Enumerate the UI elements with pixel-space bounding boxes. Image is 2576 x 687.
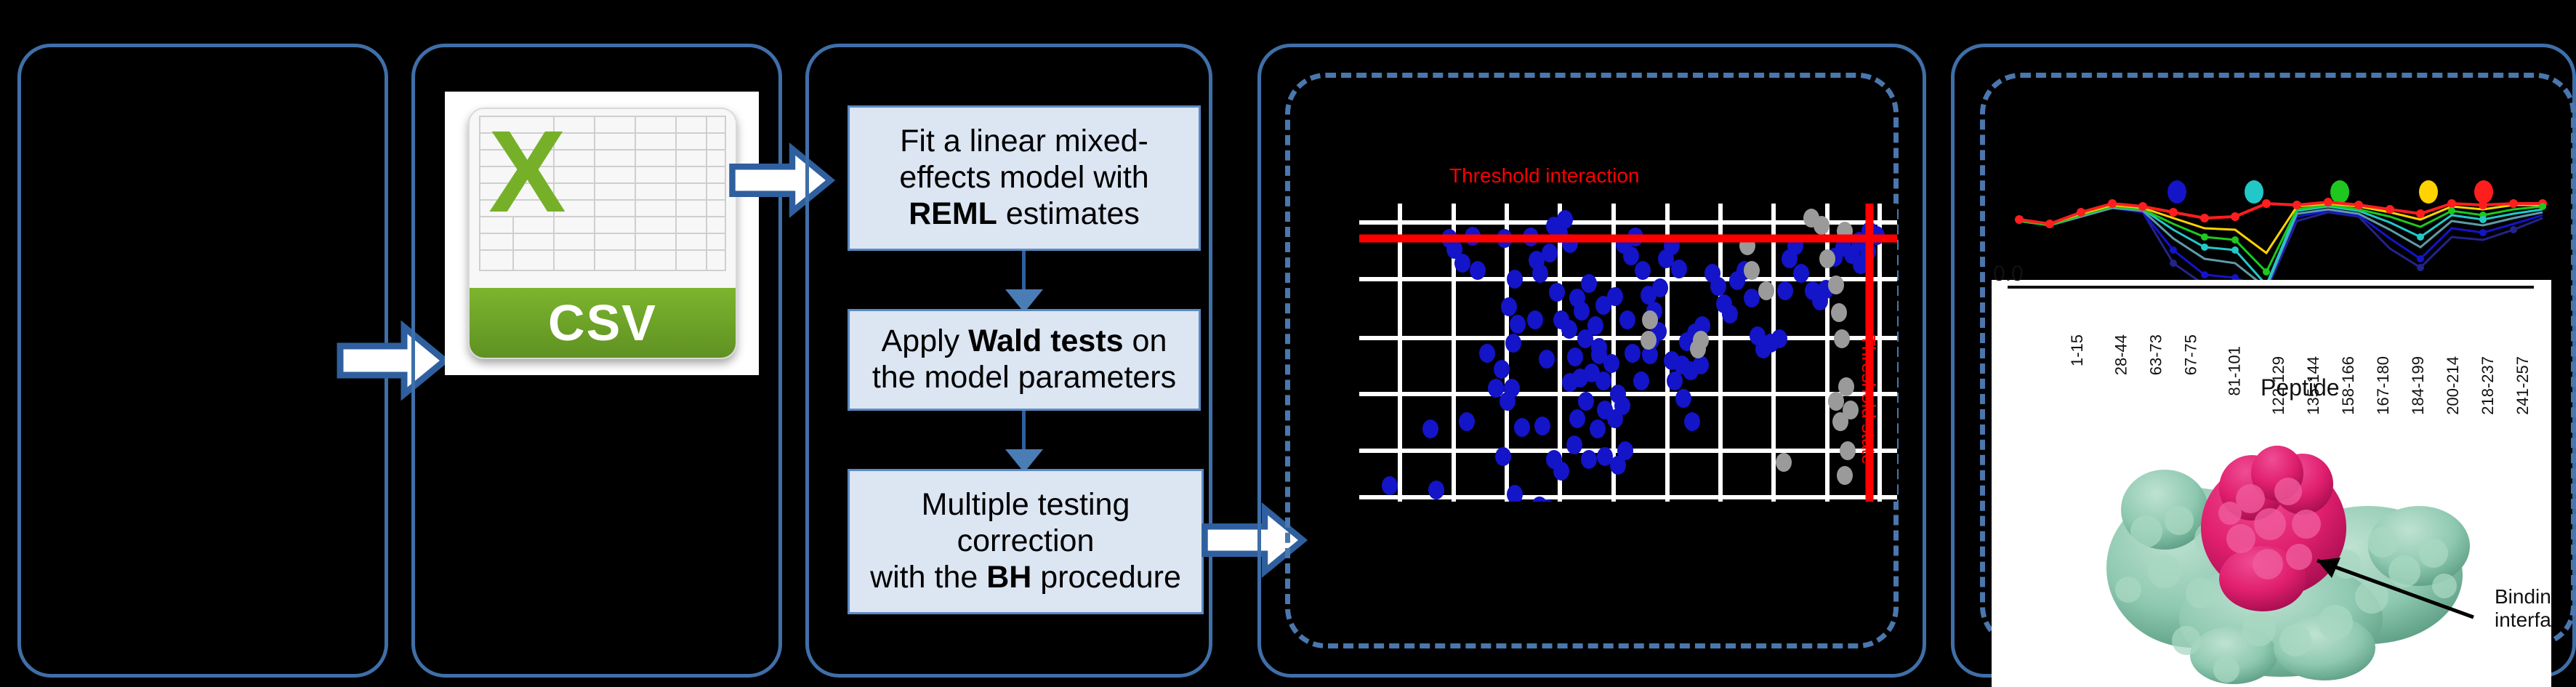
input-panel [17, 44, 388, 678]
peptide-axis-line [2008, 286, 2534, 289]
box-wald: Apply Wald tests on the model parameters [848, 309, 1201, 411]
csv-label: CSV [548, 294, 657, 352]
binding-interface-annotation: Binding interface [2495, 585, 2551, 632]
wald-line-2: the model parameters [872, 360, 1176, 395]
bh-line-3a: with the [870, 560, 986, 595]
results-figure-card: 1-15 28-44 63-73 67-75 81-101 122-129 13… [1992, 280, 2551, 687]
threshold-state-label: Threshold state [1857, 334, 1880, 465]
excel-x-letter: X [488, 113, 566, 230]
peptide-tick: 63-73 [2146, 334, 2165, 375]
wald-line-1a: Apply [882, 324, 969, 358]
peptide-tick: 1-15 [2068, 334, 2087, 366]
peptide-axis-label: Peptide [2261, 374, 2340, 401]
peptide-tick: 167-180 [2374, 356, 2393, 415]
bh-bold: BH [986, 560, 1031, 595]
annotation-line-1: Binding [2495, 585, 2551, 608]
peptide-tick: 184-199 [2409, 356, 2428, 415]
reml-line-2: effects model with [899, 160, 1148, 195]
reml-bold: REML [909, 196, 997, 231]
bh-line-1: Multiple testing [922, 487, 1130, 522]
annotation-line-2: interface [2495, 608, 2551, 632]
csv-file-icon: X CSV [468, 108, 737, 359]
peptide-tick: 67-75 [2181, 334, 2200, 375]
peptide-tick: 258-266 [2548, 356, 2551, 415]
peptide-tick: 28-44 [2112, 334, 2130, 375]
peptide-tick: 200-214 [2444, 356, 2463, 415]
threshold-interaction-label: Threshold interaction [1449, 164, 1639, 188]
reml-tail: estimates [997, 196, 1140, 231]
flow-diagram: X CSV Fit a linear mixed- effects model … [0, 0, 2576, 687]
csv-label-band: CSV [470, 288, 736, 358]
csv-card: X CSV [445, 92, 759, 375]
protein-structure-image [2077, 422, 2484, 684]
reml-line-1: Fit a linear mixed- [900, 124, 1148, 158]
wald-line-1b: on [1124, 324, 1167, 358]
peptide-tick: 158-166 [2339, 356, 2358, 415]
peptide-tick: 241-257 [2513, 356, 2532, 415]
bh-line-3b: procedure [1031, 560, 1181, 595]
y-axis-tick-label: 0.0 [1993, 262, 2024, 286]
peptide-tick: 218-237 [2479, 356, 2497, 415]
box-reml: Fit a linear mixed- effects model with R… [848, 105, 1201, 251]
volcano-plot [1359, 204, 1897, 502]
bh-line-2: correction [957, 523, 1095, 558]
peptide-tick: 81-101 [2226, 346, 2245, 396]
box-bh: Multiple testing correction with the BH … [848, 469, 1204, 614]
wald-bold: Wald tests [968, 324, 1123, 358]
